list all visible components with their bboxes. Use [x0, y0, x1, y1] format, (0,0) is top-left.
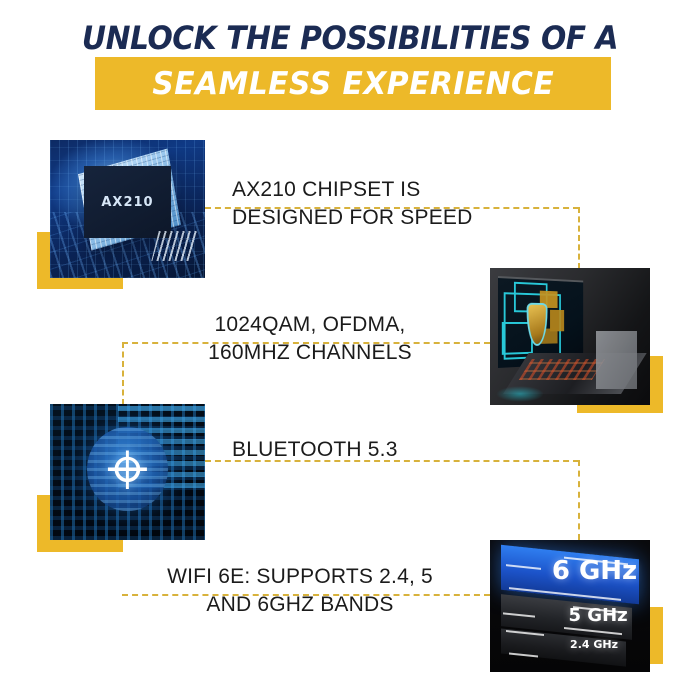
feature-text-wifi6e: WIFI 6E: SUPPORTS 2.4, 5 AND 6GHZ BANDS	[120, 563, 480, 618]
page-title: UNLOCK THE POSSIBILITIES OF A	[25, 19, 676, 57]
accent-chipset-horizontal	[37, 277, 123, 289]
connector-bluetooth-vertical	[578, 460, 580, 540]
accent-bluetooth-horizontal	[37, 540, 123, 552]
infographic-stage: UNLOCK THE POSSIBILITIES OF A SEAMLESS E…	[0, 0, 700, 700]
feature-text-bluetooth: BLUETOOTH 5.3	[232, 436, 492, 464]
feature-text-chipset: AX210 CHIPSET IS DESIGNED FOR SPEED	[232, 176, 532, 231]
band-label-5ghz: 5 GHz	[569, 605, 628, 626]
band-label-6ghz: 6 GHz	[552, 556, 637, 586]
connector-modulation-vertical	[122, 342, 124, 405]
ax210-chipset-photo: AX210	[50, 140, 205, 278]
page-subtitle: SEAMLESS EXPERIENCE	[95, 57, 611, 110]
chip-core-label: AX210	[101, 194, 153, 210]
bluetooth-icon: ⌖	[107, 432, 149, 506]
ghz-bands-photo: 6 GHz 5 GHz 2.4 GHz	[490, 540, 650, 672]
band-label-24ghz: 2.4 GHz	[570, 638, 618, 651]
bluetooth-logo-photo: ⌖	[50, 404, 205, 540]
connector-chipset-vertical	[578, 207, 580, 269]
page-subtitle-text: SEAMLESS EXPERIENCE	[152, 66, 554, 102]
chip-die-core: AX210	[84, 166, 171, 238]
laptop-security-photo	[490, 268, 650, 405]
feature-text-modulation: 1024QAM, OFDMA, 160MHZ CHANNELS	[150, 311, 470, 366]
